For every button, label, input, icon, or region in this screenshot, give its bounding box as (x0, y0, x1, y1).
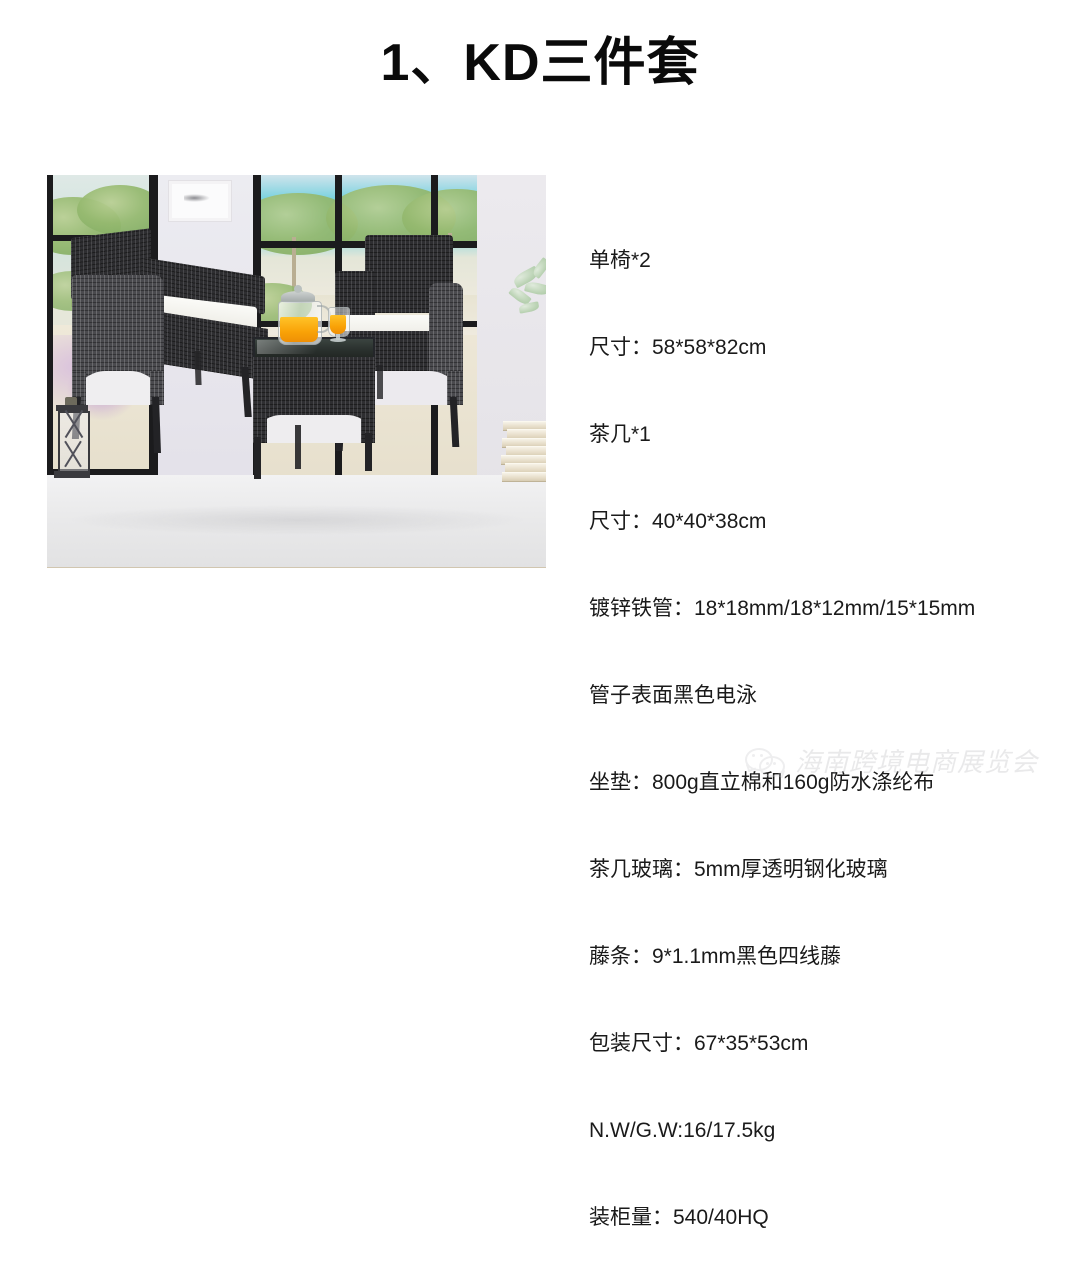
framed-wall-art (169, 181, 231, 221)
spec-line: 包装尺寸：67*35*53cm (589, 1029, 1059, 1058)
spec-line: 镀锌铁管：18*18mm/18*12mm/15*15mm (589, 594, 1059, 623)
spec-line: 尺寸：58*58*82cm (589, 333, 1059, 362)
spec-line: 管子表面黑色电泳 (589, 681, 1059, 710)
page-title: 1、KD三件套 (0, 34, 1080, 94)
spec-list: 单椅*2 尺寸：58*58*82cm 茶几*1 尺寸：40*40*38cm 镀锌… (589, 188, 1059, 1261)
spec-line: N.W/G.W:16/17.5kg (589, 1116, 1059, 1145)
rug-shadow (67, 505, 527, 535)
watermark: 海南跨境电商展览会 (745, 742, 1038, 779)
spec-line: 茶几玻璃：5mm厚透明钢化玻璃 (589, 855, 1059, 884)
spec-line: 茶几*1 (589, 420, 1059, 449)
wechat-icon (745, 746, 785, 776)
spec-line: 单椅*2 (589, 246, 1059, 275)
spec-line: 尺寸：40*40*38cm (589, 507, 1059, 536)
spec-line: 装柜量：540/40HQ (589, 1203, 1059, 1232)
spec-line: 藤条：9*1.1mm黑色四线藤 (589, 942, 1059, 971)
product-photo (47, 175, 546, 568)
watermark-text: 海南跨境电商展览会 (795, 742, 1038, 779)
